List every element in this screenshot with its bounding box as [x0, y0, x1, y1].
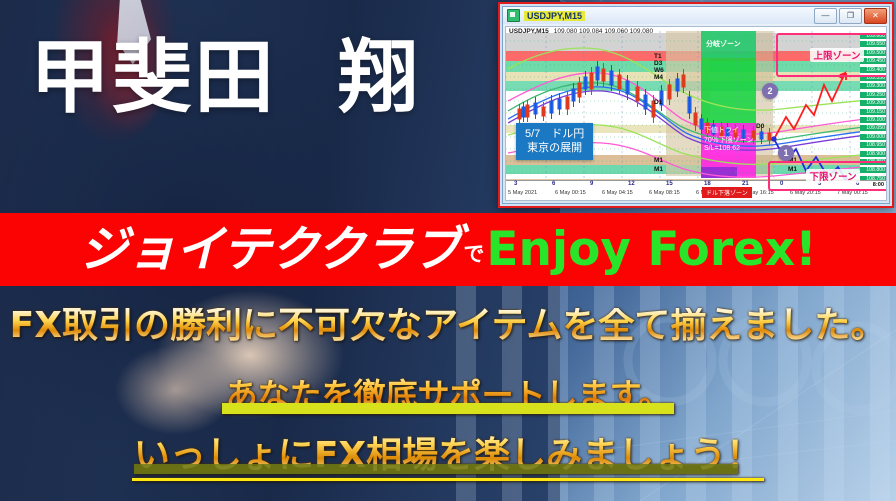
level-tag-m1-b: M1 [654, 166, 663, 173]
dollar-fall-label: ドル下落ゾーン [702, 187, 752, 198]
callout-line-2: 東京の展開 [525, 141, 584, 155]
mt4-chart-window[interactable]: USDJPY,M15 — ❐ ✕ USDJPY,M15109.080 109.0… [498, 2, 894, 208]
close-icon: ✕ [872, 12, 879, 20]
lower-zone-label: 下限ゾーン [806, 169, 859, 183]
downtry-label-2: 70％下限ゾーン [704, 135, 753, 145]
promo-copy-block: FX取引の勝利に不可欠なアイテムを全て揃えました。 あなたを徹底サポートします。… [0, 286, 896, 501]
maximize-button[interactable]: ❐ [839, 8, 862, 24]
price-tick: 109.100 [860, 117, 886, 124]
particle-de: で [463, 244, 484, 265]
brand-name-jp: ジョイテククラブ [79, 225, 460, 274]
ohlc-readout: USDJPY,M15109.080 109.084 109.060 109.08… [509, 28, 653, 35]
price-tick: 109.300 [860, 83, 886, 90]
promo-banner-root: 甲斐田 翔 USDJPY,M15 — ❐ ✕ USDJPY,M15109.080… [0, 0, 896, 501]
person-name: 甲斐田 翔 [30, 38, 420, 118]
level-tag-m1-a: M1 [654, 157, 663, 164]
level-tag-d0: D0 [756, 123, 764, 130]
brand-name-en: Enjoy Forex! [486, 226, 816, 273]
copy-line-2-wrap: あなたを徹底サポートします。 [0, 370, 896, 416]
marker-circle-1: 1 [778, 145, 794, 161]
stoploss-label: S/L=108.62 [704, 145, 740, 152]
copy-line-3-text: いっしょにFX相場を楽しみましょう！ [134, 435, 762, 476]
chart-callout-box: 5/7 ドル円 東京の展開 [516, 123, 593, 160]
time-date-label: 6 May 04:15 [602, 190, 633, 196]
time-hour-tick: 9 [590, 181, 593, 187]
upper-zone-highlight: 上限ゾーン [776, 33, 887, 77]
price-tick: 108.900 [860, 151, 886, 158]
promo-red-banner: ジョイテククラブ で Enjoy Forex! [0, 213, 896, 286]
downtry-label-1: 下値トライ [704, 125, 739, 135]
ohlc-values: 109.080 109.084 109.060 109.080 [554, 28, 653, 35]
mt4-chart-canvas[interactable]: USDJPY,M15109.080 109.084 109.060 109.08… [505, 26, 887, 201]
level-tag-t1: T1 [654, 53, 662, 60]
upper-zone-label: 上限ゾーン [810, 48, 863, 62]
price-tick: 109.200 [860, 100, 886, 107]
copy-line-2-text: あなたを徹底サポートします。 [226, 376, 671, 414]
maximize-icon: ❐ [847, 12, 854, 20]
level-tag-d1: D1 [654, 99, 662, 106]
time-date-label: 6 May 08:15 [649, 190, 680, 196]
lower-zone-highlight: 下限ゾーン [768, 161, 887, 191]
time-hour-tick: 6 [552, 181, 555, 187]
mt4-title-bar[interactable]: USDJPY,M15 — ❐ ✕ [503, 7, 889, 24]
price-tick: 108.950 [860, 142, 886, 149]
price-tick: 109.050 [860, 125, 886, 132]
level-tag-m4: M4 [654, 74, 663, 81]
mt4-window-title: USDJPY,M15 [524, 11, 585, 21]
copy-line-3-underline [132, 478, 764, 481]
projection-up-line [774, 75, 844, 139]
copy-line-3: いっしょにFX相場を楽しみましょう！ [134, 426, 762, 478]
price-plot: T1 D3 W6 M4 D1 D0 M1 M1 M1 M1 分岐ゾーン 下値トラ… [506, 27, 886, 200]
family-name: 甲斐田 [30, 38, 276, 118]
branch-zone-label: 分岐ゾーン [706, 39, 741, 49]
minimize-button[interactable]: — [814, 8, 837, 24]
level-tag-w6: W6 [654, 67, 664, 74]
minimize-icon: — [822, 12, 830, 20]
price-tick: 109.000 [860, 134, 886, 141]
time-hour-tick: 3 [514, 181, 517, 187]
chart-window-icon [507, 9, 520, 22]
level-tag-d3: D3 [654, 60, 662, 67]
ohlc-symbol: USDJPY,M15 [509, 28, 549, 35]
time-hour-tick: 15 [666, 181, 673, 187]
copy-line-3-wrap: いっしょにFX相場を楽しみましょう！ [0, 426, 896, 478]
time-hour-tick: 12 [628, 181, 635, 187]
given-name: 翔 [338, 38, 420, 118]
copy-line-1: FX取引の勝利に不可欠なアイテムを全て揃えました。 [0, 308, 896, 344]
mt4-window-inner: USDJPY,M15 — ❐ ✕ USDJPY,M15109.080 109.0… [502, 6, 890, 204]
marker-circle-2: 2 [762, 83, 778, 99]
time-date-label: 5 May 2021 [508, 190, 537, 196]
window-controls: — ❐ ✕ [814, 8, 887, 24]
callout-line-1: 5/7 ドル円 [525, 127, 584, 141]
copy-line-2: あなたを徹底サポートします。 [226, 370, 671, 416]
time-date-label: 6 May 00:15 [555, 190, 586, 196]
price-tick: 109.250 [860, 92, 886, 99]
close-button[interactable]: ✕ [864, 8, 887, 24]
price-tick: 109.150 [860, 109, 886, 116]
